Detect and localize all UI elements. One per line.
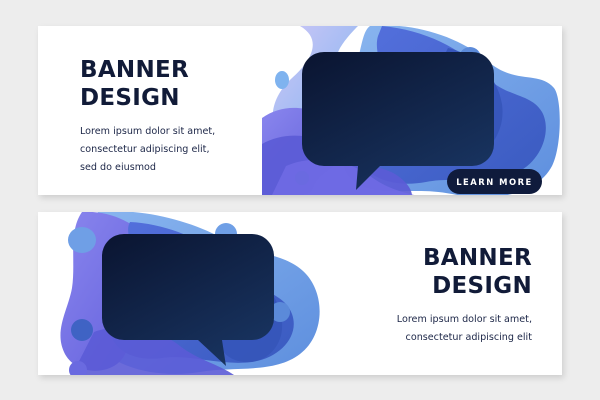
banner-body-copy: Lorem ipsum dolor sit amet, consectetur …	[80, 123, 310, 176]
banner-body-copy: Lorem ipsum dolor sit amet, consectetur …	[282, 311, 532, 346]
banner-mockup-stage: BANNER DESIGN Lorem ipsum dolor sit amet…	[0, 0, 600, 400]
banner-card-bottom[interactable]: BANNER DESIGN Lorem ipsum dolor sit amet…	[38, 212, 562, 375]
banner-text-block-bottom: BANNER DESIGN Lorem ipsum dolor sit amet…	[282, 244, 532, 347]
banner-card-top[interactable]: BANNER DESIGN Lorem ipsum dolor sit amet…	[38, 26, 562, 195]
banner-text-block-top: BANNER DESIGN Lorem ipsum dolor sit amet…	[80, 56, 310, 176]
page-title: BANNER DESIGN	[282, 244, 532, 300]
page-title: BANNER DESIGN	[80, 56, 310, 112]
learn-more-button[interactable]: LEARN MORE	[447, 169, 542, 194]
